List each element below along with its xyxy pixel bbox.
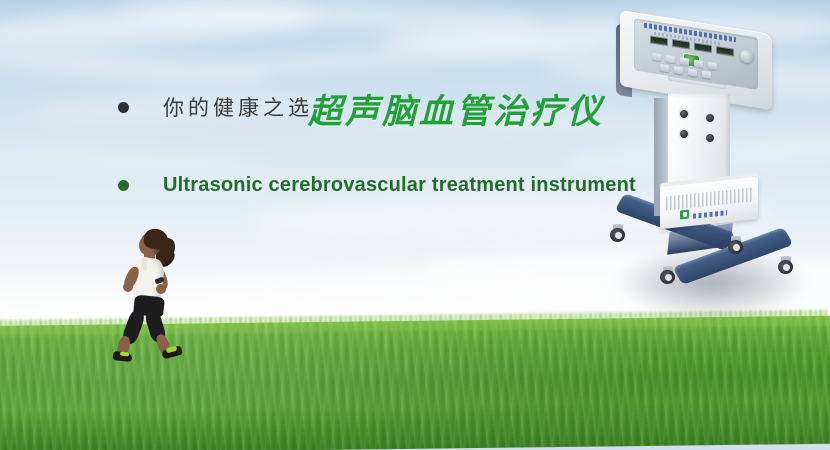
product-banner: 你的健康之选 超声脑血管治疗仪 Ultrasonic cerebrovascul… bbox=[0, 0, 830, 450]
panel-button[interactable] bbox=[702, 71, 711, 79]
back-shoe-accent bbox=[120, 352, 129, 357]
panel-button[interactable] bbox=[674, 66, 683, 74]
panel-button[interactable] bbox=[688, 68, 697, 76]
caster-wheel bbox=[610, 224, 626, 242]
panel-button[interactable] bbox=[660, 64, 669, 72]
bullet-dot-green-icon bbox=[118, 180, 129, 191]
product-title-cn: 超声脑血管治疗仪 bbox=[308, 84, 604, 133]
cloud-streak bbox=[0, 142, 270, 176]
panel-button[interactable] bbox=[694, 60, 703, 68]
jogging-woman bbox=[96, 226, 216, 354]
caster-wheel bbox=[728, 236, 744, 254]
basket-logo-icon bbox=[680, 210, 689, 220]
english-title-row: Ultrasonic cerebrovascular treatment ins… bbox=[118, 174, 636, 197]
tagline-cn: 你的健康之选 bbox=[163, 92, 313, 122]
product-title-en: Ultrasonic cerebrovascular treatment ins… bbox=[163, 174, 636, 197]
panel-button[interactable] bbox=[666, 55, 675, 63]
connector-socket[interactable] bbox=[680, 110, 688, 118]
caster-wheel bbox=[660, 266, 676, 284]
caster-hub bbox=[665, 274, 672, 281]
connector-socket[interactable] bbox=[706, 114, 714, 122]
caster-wheel bbox=[778, 256, 794, 274]
panel-button[interactable] bbox=[680, 57, 689, 65]
caster-hub bbox=[783, 264, 790, 271]
front-fist bbox=[123, 282, 133, 292]
connector-socket[interactable] bbox=[680, 130, 688, 138]
panel-button[interactable] bbox=[708, 62, 717, 70]
connector-socket[interactable] bbox=[706, 134, 714, 142]
back-fist bbox=[156, 284, 166, 294]
ultrasonic-treatment-trolley bbox=[598, 14, 828, 326]
tagline-row: 你的健康之选 bbox=[118, 92, 313, 122]
caster-hub bbox=[733, 244, 740, 251]
panel-button[interactable] bbox=[652, 53, 661, 61]
bullet-dot-dark-icon bbox=[118, 102, 129, 113]
caster-hub bbox=[615, 232, 622, 239]
